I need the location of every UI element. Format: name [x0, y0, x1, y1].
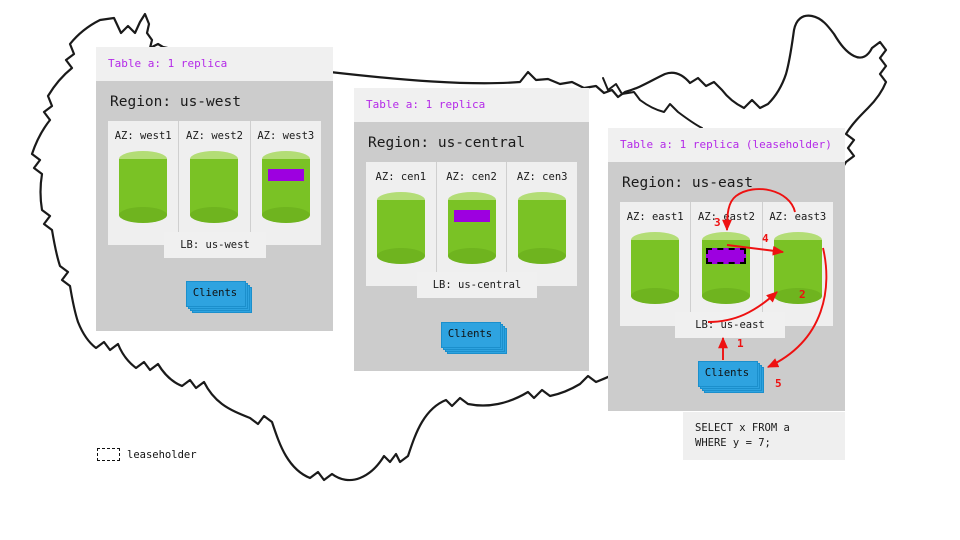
- leaseholder-swatch-icon: [97, 448, 120, 461]
- region-title-us-central: Region: us-central: [354, 122, 589, 162]
- replica-header-us-west: Table a: 1 replica: [96, 47, 333, 81]
- az-label-west1: AZ: west1: [108, 130, 178, 142]
- clients-stack-us-west[interactable]: Clients: [186, 281, 244, 305]
- flow-step-number-2: 2: [799, 288, 806, 301]
- flow-step-number-1: 1: [737, 337, 744, 350]
- node-cylinder-west1[interactable]: [119, 151, 167, 223]
- az-row-us-central: AZ: cen1 AZ: cen2 AZ: cen3: [366, 162, 577, 286]
- legend-label-leaseholder: leaseholder: [127, 449, 197, 461]
- cylinder-bottom-icon: [119, 207, 167, 223]
- node-cylinder-cen3[interactable]: [518, 192, 566, 264]
- replica-header-us-central: Table a: 1 replica: [354, 88, 589, 122]
- load-balancer-us-east[interactable]: LB: us-east: [675, 312, 785, 338]
- flow-step-number-3: 3: [714, 216, 721, 229]
- great-lakes-path: [603, 78, 702, 128]
- replica-marker-cen2: [454, 210, 490, 222]
- az-cell-west2[interactable]: AZ: west2: [179, 121, 250, 245]
- clients-stack-us-east[interactable]: Clients: [698, 361, 756, 385]
- cylinder-bottom-icon: [448, 248, 496, 264]
- az-label-east2: AZ: east2: [691, 211, 761, 223]
- replica-header-us-east: Table a: 1 replica (leaseholder): [608, 128, 845, 162]
- flow-step-number-5: 5: [775, 377, 782, 390]
- node-cylinder-west2[interactable]: [190, 151, 238, 223]
- diagram-canvas: Table a: 1 replica Region: us-west AZ: w…: [0, 0, 960, 540]
- load-balancer-us-west[interactable]: LB: us-west: [164, 232, 266, 258]
- region-title-us-east: Region: us-east: [608, 162, 845, 202]
- az-label-east3: AZ: east3: [763, 211, 833, 223]
- node-cylinder-cen2[interactable]: [448, 192, 496, 264]
- clients-label-us-east: Clients: [698, 361, 756, 385]
- az-cell-cen3[interactable]: AZ: cen3: [507, 162, 577, 286]
- clients-label-us-central: Clients: [441, 322, 499, 346]
- flow-step-number-4: 4: [762, 232, 769, 245]
- node-cylinder-east2[interactable]: [702, 232, 750, 304]
- node-cylinder-east1[interactable]: [631, 232, 679, 304]
- cylinder-bottom-icon: [702, 288, 750, 304]
- load-balancer-us-central[interactable]: LB: us-central: [417, 272, 537, 298]
- az-cell-west3[interactable]: AZ: west3: [251, 121, 321, 245]
- az-row-us-east: AZ: east1 AZ: east2 AZ: east3: [620, 202, 833, 326]
- az-cell-east1[interactable]: AZ: east1: [620, 202, 691, 326]
- az-label-cen3: AZ: cen3: [507, 171, 577, 183]
- az-cell-east3[interactable]: AZ: east3: [763, 202, 833, 326]
- az-cell-cen2[interactable]: AZ: cen2: [437, 162, 508, 286]
- sql-query-note: SELECT x FROM a WHERE y = 7;: [683, 412, 845, 460]
- az-label-east1: AZ: east1: [620, 211, 690, 223]
- az-cell-west1[interactable]: AZ: west1: [108, 121, 179, 245]
- leaseholder-replica-marker-east2: [706, 248, 746, 264]
- az-cell-east2[interactable]: AZ: east2: [691, 202, 762, 326]
- cylinder-bottom-icon: [631, 288, 679, 304]
- node-cylinder-cen1[interactable]: [377, 192, 425, 264]
- cylinder-bottom-icon: [262, 207, 310, 223]
- region-title-us-west: Region: us-west: [96, 81, 333, 121]
- az-row-us-west: AZ: west1 AZ: west2 AZ: west3: [108, 121, 321, 245]
- replica-marker-west3: [268, 169, 304, 181]
- cylinder-bottom-icon: [518, 248, 566, 264]
- node-cylinder-west3[interactable]: [262, 151, 310, 223]
- cylinder-bottom-icon: [774, 288, 822, 304]
- az-label-cen2: AZ: cen2: [437, 171, 507, 183]
- az-label-west2: AZ: west2: [179, 130, 249, 142]
- az-cell-cen1[interactable]: AZ: cen1: [366, 162, 437, 286]
- az-label-west3: AZ: west3: [251, 130, 321, 142]
- az-label-cen1: AZ: cen1: [366, 171, 436, 183]
- clients-label-us-west: Clients: [186, 281, 244, 305]
- cylinder-bottom-icon: [190, 207, 238, 223]
- clients-stack-us-central[interactable]: Clients: [441, 322, 499, 346]
- legend: leaseholder: [97, 448, 197, 461]
- node-cylinder-east3[interactable]: [774, 232, 822, 304]
- cylinder-bottom-icon: [377, 248, 425, 264]
